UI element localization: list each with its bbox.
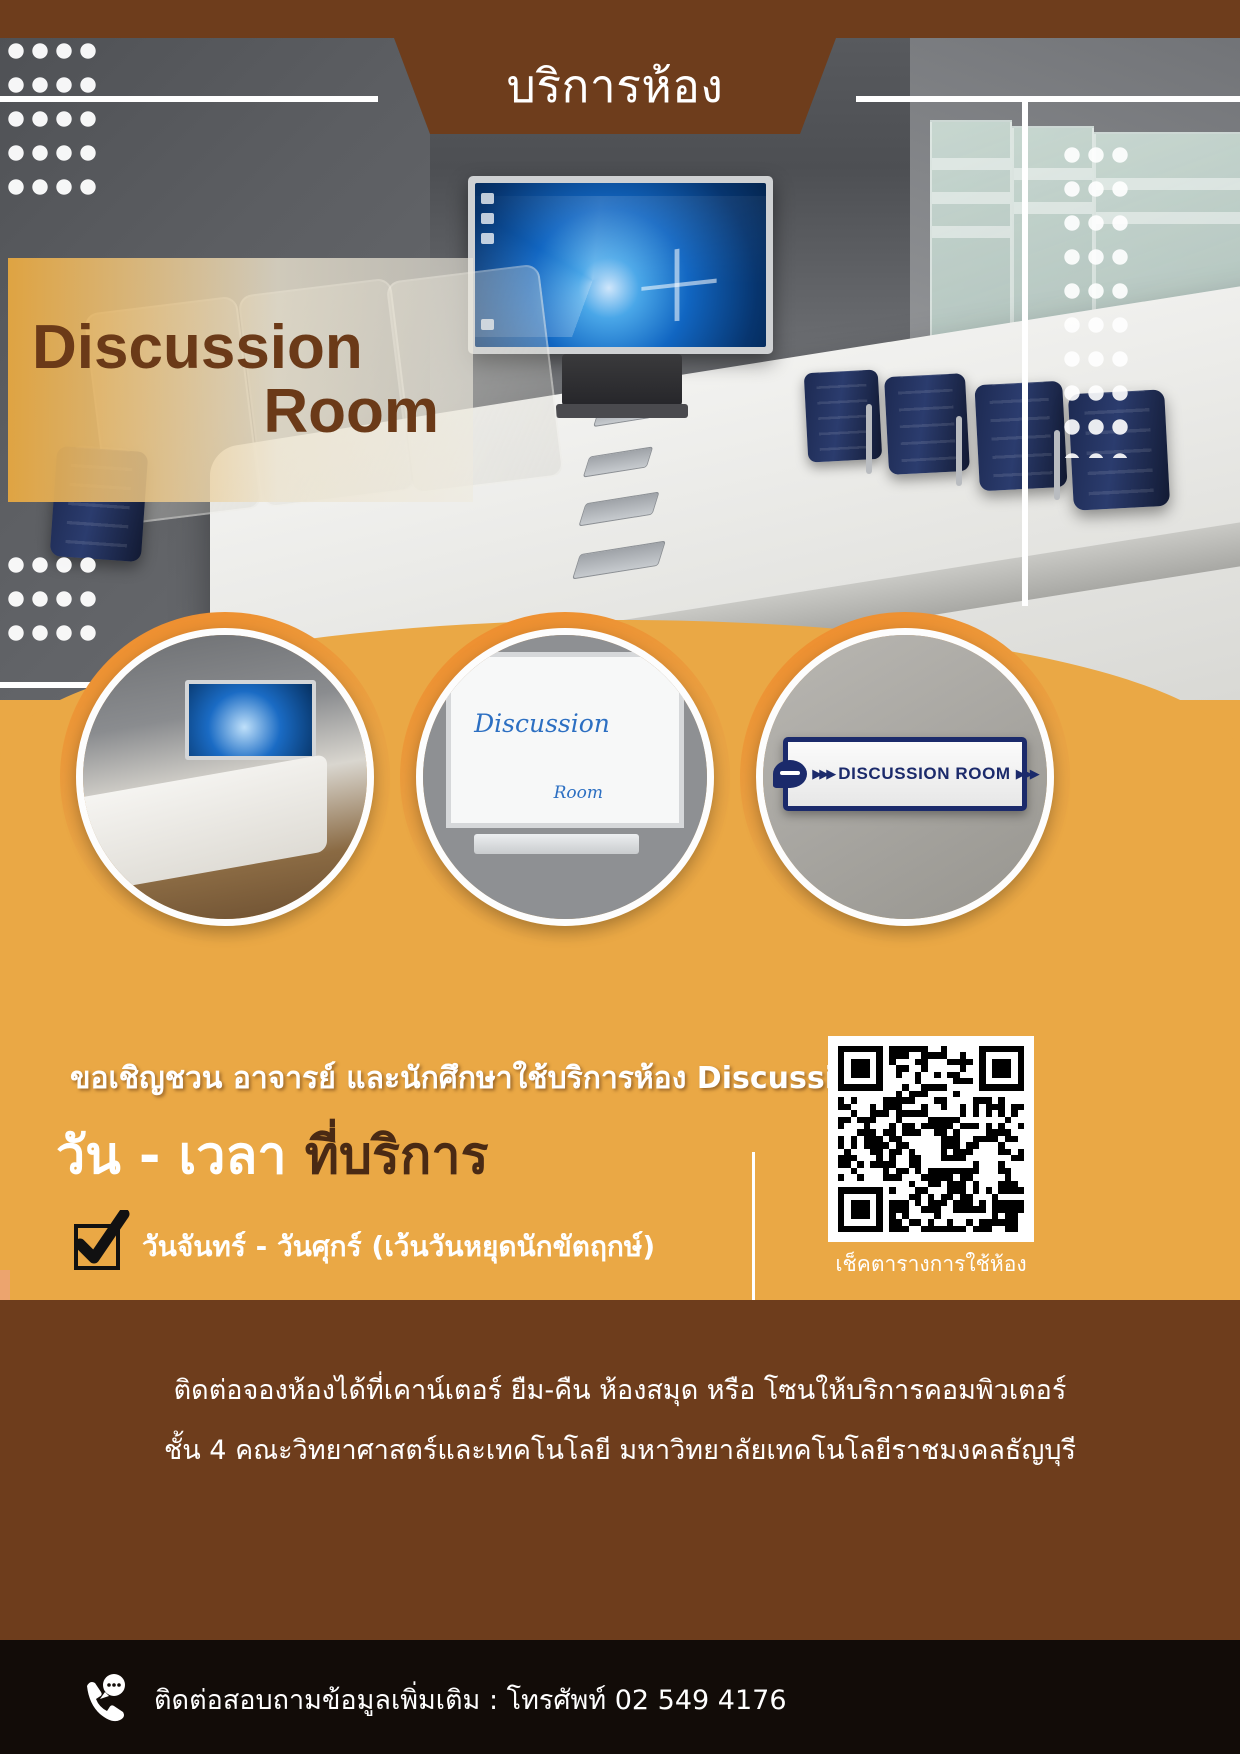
footer-line-1: ติดต่อจองห้องได้ที่เคาน์เตอร์ ยืม-คืน ห้…: [0, 1368, 1240, 1411]
display-base: [556, 404, 688, 418]
whiteboard-tray: [474, 834, 639, 854]
windows-logo-icon: [641, 242, 716, 322]
page-title: บริการห้อง: [370, 38, 860, 134]
poster-root: บริการห้อง Discussion Room Discussion Ro…: [0, 0, 1240, 1754]
checkbox-icon-0: [74, 1224, 120, 1270]
photo-door-sign: ▶▶▶ DISCUSSION ROOM ▶▶▶: [763, 635, 1047, 919]
qr-caption: เช็คตารางการใช้ห้อง: [800, 1248, 1062, 1281]
door-sign-label: DISCUSSION ROOM: [838, 764, 1010, 784]
chair-frame-2: [956, 416, 962, 486]
schedule-section-title: วัน - เวลา ที่บริการ: [56, 1130, 489, 1182]
photo-table: [76, 754, 327, 897]
header-bar: [0, 0, 1240, 38]
whiteboard-text-2: Room: [554, 783, 603, 803]
vertical-divider: [752, 1152, 755, 1310]
room-title: Discussion Room: [8, 258, 473, 502]
circle-photo-3: ▶▶▶ DISCUSSION ROOM ▶▶▶: [756, 628, 1054, 926]
schedule-item-0: วันจันทร์ - วันศุกร์ (เว้นวันหยุดนักขัตฤ…: [74, 1224, 655, 1270]
photo-circle-whiteboard: Discussion Room: [400, 612, 730, 942]
door-sign-plate: ▶▶▶ DISCUSSION ROOM ▶▶▶: [783, 737, 1027, 811]
dot-pattern-right: [1060, 138, 1132, 458]
footer-line-2: ชั้น 4 คณะวิทยาศาสตร์และเทคโนโลยี มหาวิท…: [0, 1428, 1240, 1471]
photo-whiteboard: Discussion Room: [423, 635, 707, 919]
whiteboard-text-1: Discussion: [474, 709, 610, 738]
schedule-title-brown: ที่บริการ: [305, 1126, 489, 1186]
photo-circle-room: [60, 612, 390, 942]
room-title-line2: Room: [8, 380, 473, 444]
qr-code[interactable]: [828, 1036, 1034, 1242]
qr-code-grid: [838, 1046, 1024, 1232]
photo-circle-sign: ▶▶▶ DISCUSSION ROOM ▶▶▶: [740, 612, 1070, 942]
frame-line-left: [0, 96, 378, 102]
phone-icon: [78, 1672, 132, 1726]
contact-text: ติดต่อสอบถามข้อมูลเพิ่มเติม : โทรศัพท์ 0…: [154, 1678, 787, 1721]
photo-display-icon: [185, 680, 316, 760]
dot-pattern-top: [4, 34, 100, 212]
taskbar-icon-3: [481, 233, 494, 244]
circle-photo-2: Discussion Room: [416, 628, 714, 926]
taskbar-icon-2: [481, 213, 494, 224]
display-stand: [562, 354, 682, 406]
arrow-icon-right: ▶▶▶: [1016, 766, 1037, 782]
photo-meeting-room: [83, 635, 367, 919]
contact-row: ติดต่อสอบถามข้อมูลเพิ่มเติม : โทรศัพท์ 0…: [78, 1672, 787, 1726]
chair-frame-1: [866, 404, 872, 474]
frame-line-vertical: [1022, 96, 1028, 606]
arrow-icon-left: ▶▶▶: [812, 766, 833, 782]
speech-bubble-icon: [773, 760, 807, 788]
frame-line-right: [856, 96, 1240, 102]
circle-photo-1: [76, 628, 374, 926]
room-title-line1: Discussion: [8, 316, 473, 380]
schedule-title-white: วัน - เวลา: [56, 1126, 305, 1186]
schedule-item-label-0: วันจันทร์ - วันศุกร์ (เว้นวันหยุดนักขัตฤ…: [142, 1225, 655, 1269]
taskbar-icon-1: [481, 193, 494, 204]
